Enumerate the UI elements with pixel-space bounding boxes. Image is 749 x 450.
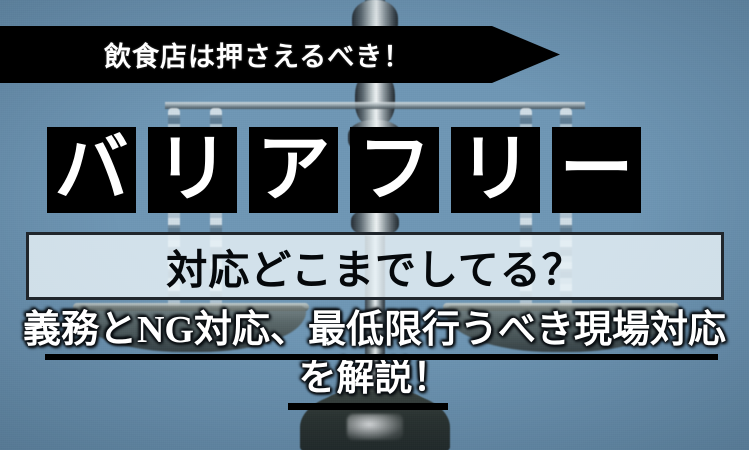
title-char-box: リ <box>148 127 237 213</box>
description-line-1: 義務とNG対応、最低限行うべき現場対応 <box>0 306 749 354</box>
title-char-box: リ <box>451 127 540 213</box>
title-char-box: ー <box>552 127 641 213</box>
eyebrow-text: 飲食店は押さえるべき！ <box>104 35 411 74</box>
page-title: バ リ ア フ リ ー <box>47 127 641 213</box>
eyebrow-arrow-banner: 飲食店は押さえるべき！ <box>0 26 560 83</box>
underline-bar-wide <box>45 354 718 360</box>
title-char-box: バ <box>47 127 136 213</box>
title-char-box: ア <box>249 127 338 213</box>
underline-bar-short <box>288 403 448 410</box>
description-line-2: を解説！ <box>0 354 749 402</box>
title-char-box: フ <box>350 127 439 213</box>
thumbnail-canvas: 飲食店は押さえるべき！ バ リ ア フ リ ー 対応どこまでしてる？ 義務とNG… <box>0 0 749 450</box>
subtitle-panel: 対応どこまでしてる？ <box>26 232 724 300</box>
subtitle-text: 対応どこまでしてる？ <box>166 236 584 296</box>
